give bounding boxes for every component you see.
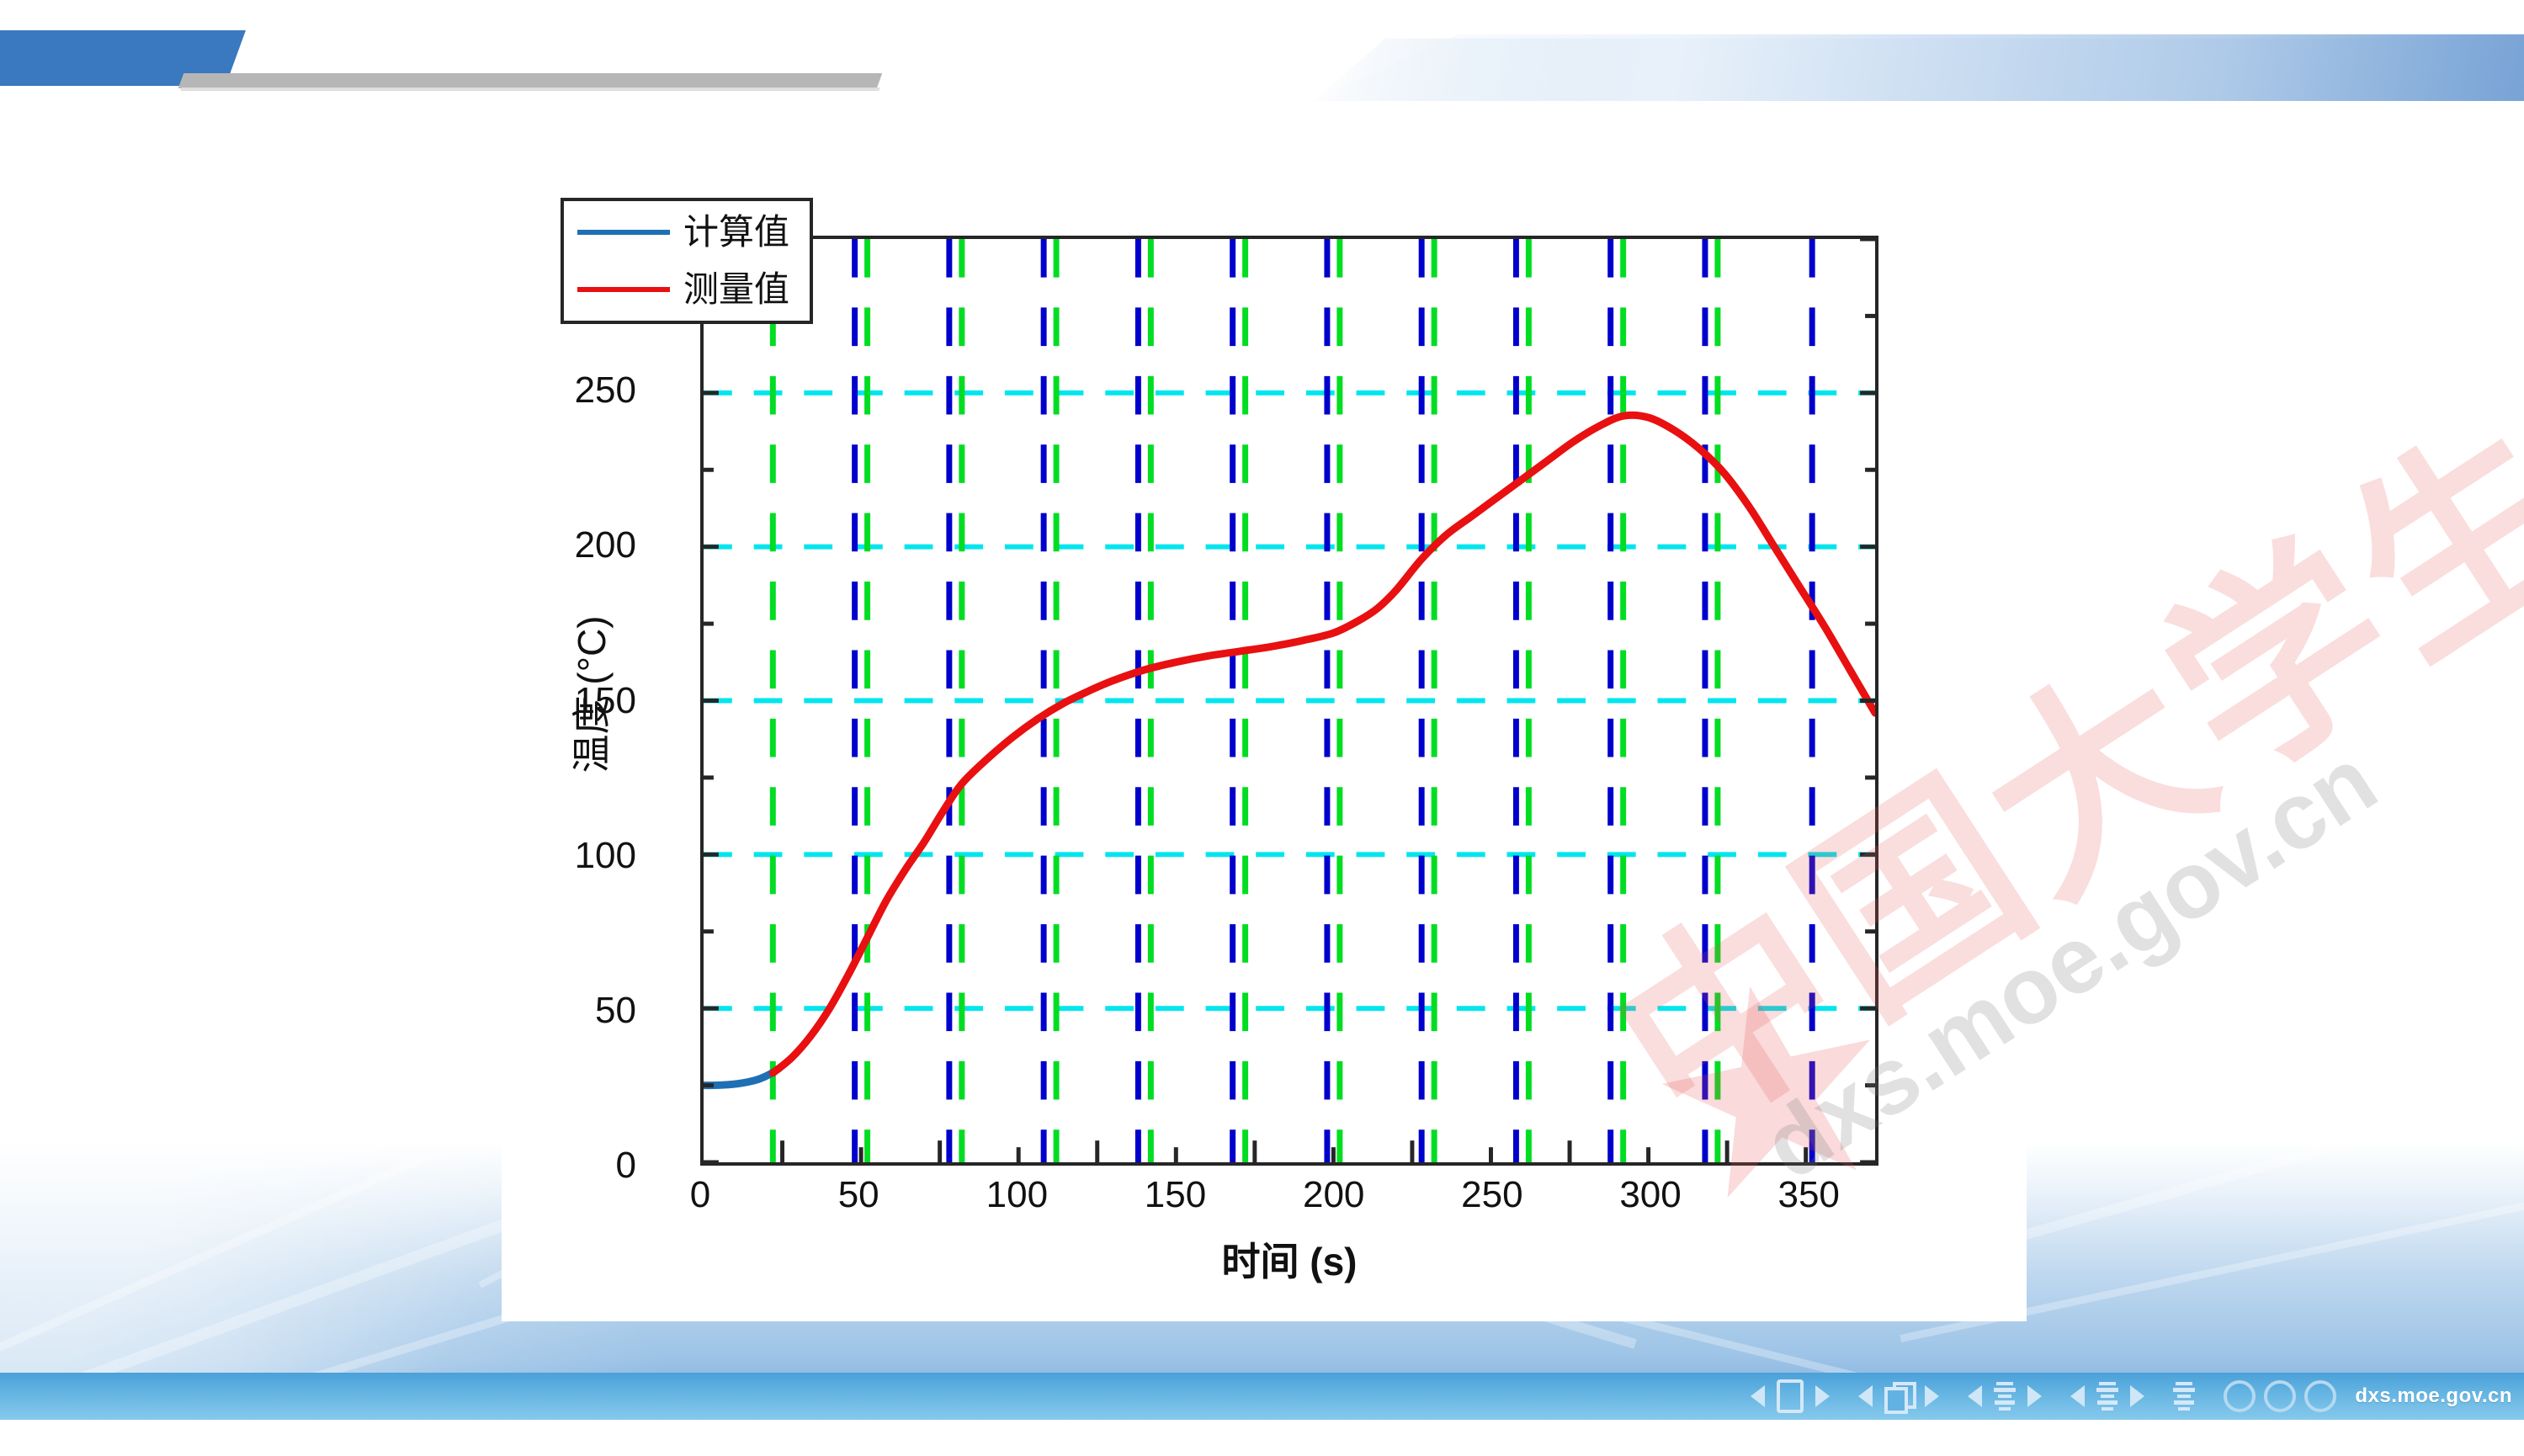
x-tick-label: 0 bbox=[690, 1174, 710, 1216]
list-icon-2[interactable] bbox=[2096, 1382, 2118, 1411]
header-gray-bar-shadow bbox=[180, 88, 879, 91]
nav-group-1 bbox=[1751, 1379, 1830, 1413]
next-arrow-icon-2[interactable] bbox=[1925, 1385, 1939, 1407]
legend-swatch-calculated bbox=[577, 230, 670, 235]
legend-swatch-measured bbox=[577, 287, 670, 292]
next-arrow-icon-4[interactable] bbox=[2130, 1385, 2144, 1407]
chart-legend: 计算值 测量值 bbox=[561, 198, 813, 324]
x-tick-label: 200 bbox=[1303, 1174, 1364, 1216]
nav-group-4 bbox=[2070, 1382, 2144, 1411]
x-tick-label: 250 bbox=[1461, 1174, 1522, 1216]
y-axis-title-wrap: 温度 (°C) bbox=[539, 236, 589, 1166]
legend-label-calculated: 计算值 bbox=[683, 215, 789, 250]
x-axis-title: 时间 (s) bbox=[700, 1231, 1878, 1287]
circle-icon-1[interactable] bbox=[2224, 1380, 2256, 1412]
x-tick-label: 300 bbox=[1619, 1174, 1681, 1216]
nav-group-5 bbox=[2173, 1382, 2195, 1411]
circle-icon-3[interactable] bbox=[2304, 1380, 2336, 1412]
header-gray-bar bbox=[178, 73, 883, 88]
x-tick-label: 50 bbox=[838, 1174, 879, 1216]
next-arrow-icon-3[interactable] bbox=[2027, 1385, 2042, 1407]
legend-entry-measured: 测量值 bbox=[577, 272, 796, 307]
stack-icon[interactable] bbox=[1884, 1382, 1913, 1411]
footer-domain-text: dxs.moe.gov.cn bbox=[2355, 1384, 2512, 1408]
nav-circle-group bbox=[2224, 1380, 2336, 1412]
list-icon[interactable] bbox=[1994, 1382, 2016, 1411]
plot-svg bbox=[704, 239, 1875, 1162]
x-tick-label: 350 bbox=[1777, 1174, 1839, 1216]
circle-icon-2[interactable] bbox=[2264, 1380, 2296, 1412]
nav-group-3 bbox=[1968, 1382, 2042, 1411]
prev-arrow-icon-2[interactable] bbox=[1858, 1385, 1873, 1407]
x-tick-label: 150 bbox=[1145, 1174, 1206, 1216]
page-icon[interactable] bbox=[1777, 1379, 1804, 1413]
plot-area bbox=[700, 236, 1878, 1166]
legend-entry-calculated: 计算值 bbox=[577, 215, 796, 250]
chart-figure: 050100150200250300 温度 (°C) 计算值 测量值 05010… bbox=[502, 164, 2027, 1321]
y-axis-title: 温度 (°C) bbox=[561, 248, 617, 1140]
prev-arrow-icon[interactable] bbox=[1751, 1385, 1765, 1407]
legend-label-measured: 测量值 bbox=[683, 272, 789, 307]
list-icon-3[interactable] bbox=[2173, 1382, 2195, 1411]
x-tick-label: 100 bbox=[986, 1174, 1048, 1216]
prev-arrow-icon-4[interactable] bbox=[2070, 1385, 2085, 1407]
footer-navbar: dxs.moe.gov.cn bbox=[0, 1373, 2524, 1420]
nav-group-2 bbox=[1858, 1382, 1939, 1411]
y-tick-label: 0 bbox=[616, 1145, 636, 1187]
prev-arrow-icon-3[interactable] bbox=[1968, 1385, 1982, 1407]
next-arrow-icon[interactable] bbox=[1815, 1385, 1830, 1407]
